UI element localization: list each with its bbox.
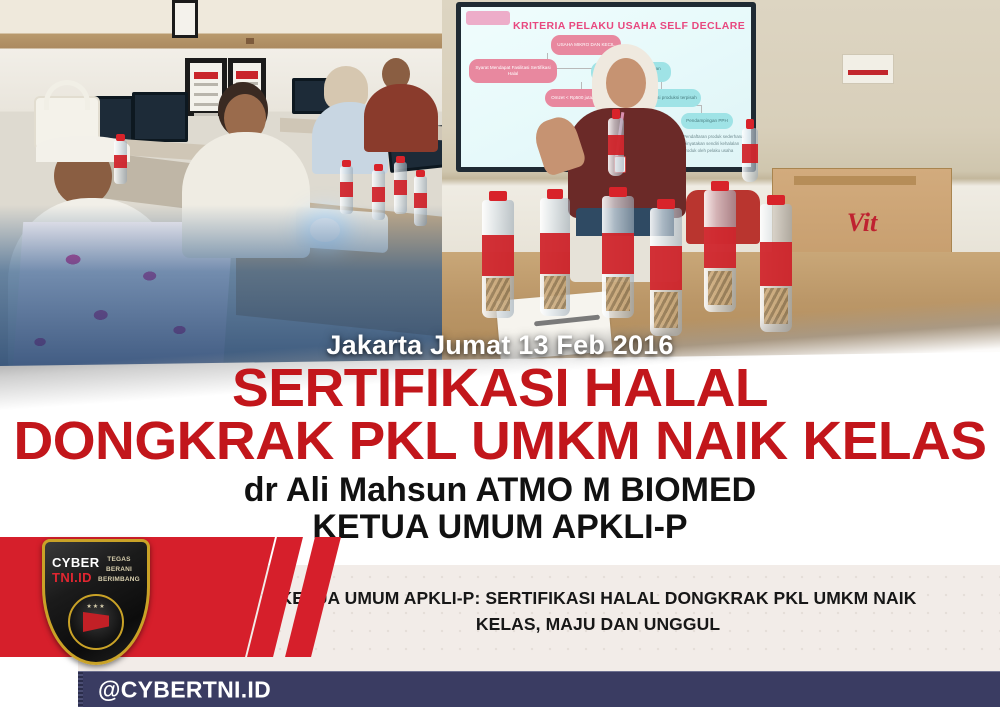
logo-brand-bottom: TNI.ID [52, 570, 92, 585]
shield-icon: CYBER TNI.ID TEGAS BERANI BERIMBANG ★★★ [42, 539, 150, 665]
bottle [482, 200, 514, 318]
bag-handle [44, 80, 90, 110]
photo-training-room [0, 0, 442, 372]
bottle [704, 190, 736, 312]
slide-logo [466, 11, 510, 25]
emblem-icon: ★★★ [68, 594, 124, 650]
bottle [742, 128, 758, 182]
bottle [602, 196, 634, 318]
logo-motto: TEGAS BERANI BERIMBANG [97, 555, 141, 584]
slide-node: Syarat Mendapat Fasilitasi Sertifikasi H… [469, 59, 557, 83]
bottle [608, 118, 624, 176]
caption-text: KETUA UMUM APKLI-P: SERTIFIKASI HALAL DO… [256, 585, 940, 638]
carton-tape [794, 176, 916, 185]
news-poster: KRITERIA PELAKU USAHA SELF DECLARE USAHA… [0, 0, 1000, 707]
headline-block: SERTIFIKASI HALAL DONGKRAK PKL UMKM NAIK… [0, 364, 1000, 545]
slide-node: Pendampingan PPH [681, 113, 733, 129]
headline-line-2: DONGKRAK PKL UMKM NAIK KELAS [0, 417, 1000, 467]
date-label: Jakarta Jumat 13 Feb 2016 [0, 330, 1000, 361]
wall-portrait [172, 0, 198, 38]
social-handle-bar: @CYBERTNI.ID [78, 671, 1000, 707]
logo-motto-line-2: BERANI [97, 565, 141, 575]
logo-motto-line-3: BERIMBANG [97, 575, 141, 585]
headline-line-1: SERTIFIKASI HALAL [0, 364, 1000, 414]
monitor [132, 92, 188, 142]
slide-bullets: Pendaftaran produk sederhana Dinyatakan … [683, 133, 745, 154]
bottle [760, 204, 792, 332]
wall-sign [842, 54, 894, 84]
wall-sign-text [848, 70, 888, 75]
presenter-head [606, 58, 646, 108]
photo-presentation: KRITERIA PELAKU USAHA SELF DECLARE USAHA… [442, 0, 1000, 372]
bottle [650, 208, 682, 336]
bottle [114, 140, 127, 184]
person-body [364, 84, 438, 152]
cybertni-logo[interactable]: CYBER TNI.ID TEGAS BERANI BERIMBANG ★★★ [42, 539, 150, 665]
photo-collage: KRITERIA PELAKU USAHA SELF DECLARE USAHA… [0, 0, 1000, 372]
carton-brand: Vit [773, 208, 951, 238]
slide-bullet: Pendaftaran produk sederhana [683, 133, 745, 140]
logo-motto-line-1: TEGAS [97, 555, 141, 565]
speaker-name: dr Ali Mahsun ATMO M BIOMED [0, 472, 1000, 508]
emblem-stars: ★★★ [86, 603, 105, 610]
logo-brand-top: CYBER [52, 555, 100, 570]
slide-bullet: Dinyatakan sendiri kehalalan produk oleh… [683, 140, 745, 154]
bottle [540, 198, 570, 316]
slide-title: KRITERIA PELAKU USAHA SELF DECLARE [513, 20, 721, 32]
wall-mark [246, 38, 254, 44]
social-handle: @CYBERTNI.ID [98, 676, 271, 703]
caption-strip-bottom [78, 657, 1000, 671]
